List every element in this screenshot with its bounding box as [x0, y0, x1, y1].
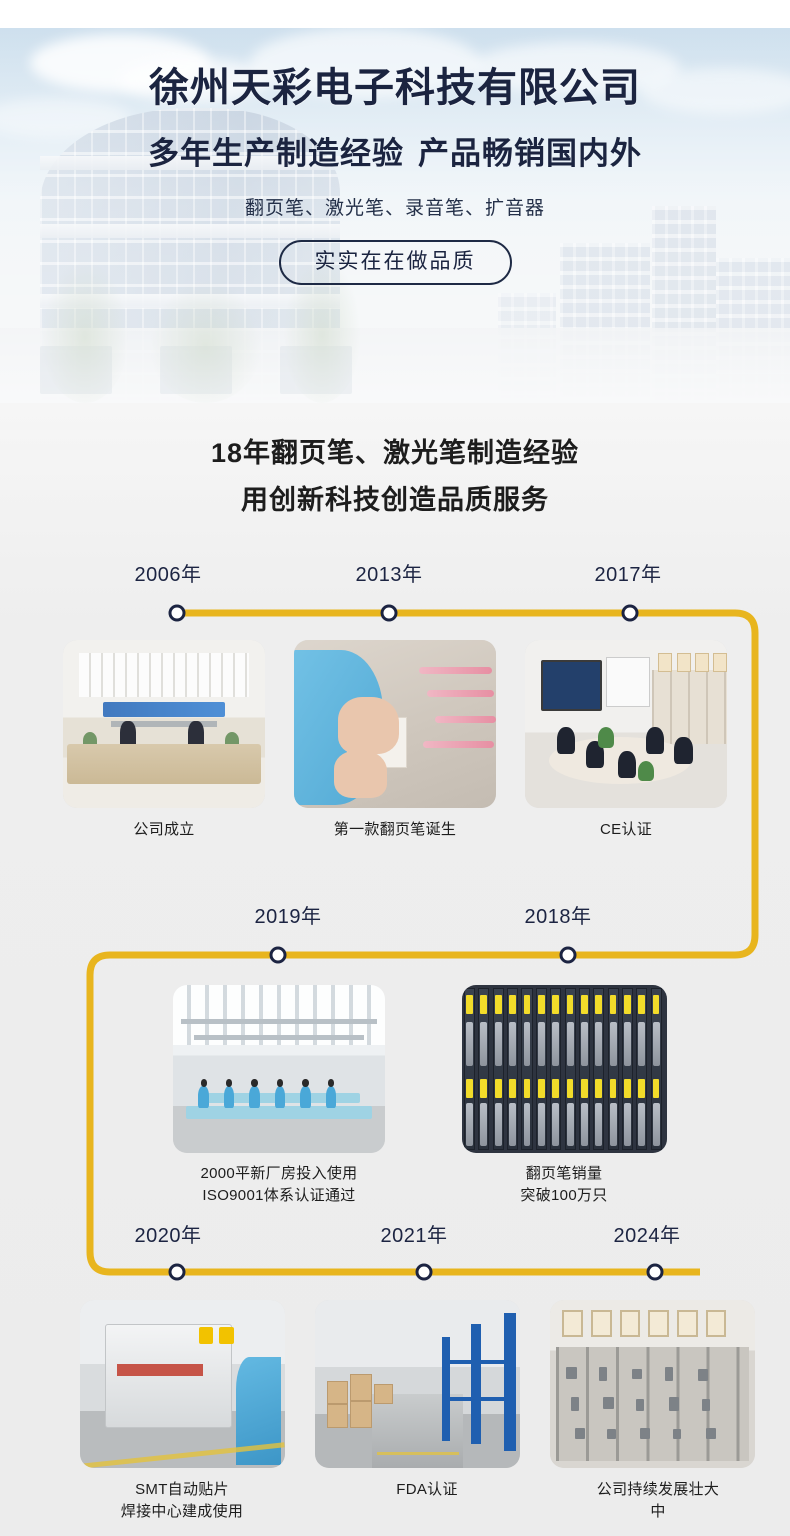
- timeline-year-2013: 2013年: [356, 565, 423, 585]
- timeline-node-2006: [169, 605, 186, 622]
- timeline-photo-factory-line[interactable]: [173, 985, 385, 1153]
- timeline-caption-2024: 公司持续发展壮大中: [592, 1479, 724, 1523]
- timeline-node-2018: [560, 947, 577, 964]
- timeline-photo-showroom[interactable]: [550, 1300, 755, 1468]
- timeline-photo-warehouse[interactable]: [315, 1300, 520, 1468]
- timeline-year-2021: 2021年: [381, 1226, 448, 1246]
- hero-banner: 徐州天彩电子科技有限公司 多年生产制造经验产品畅销国内外 翻页笔、激光笔、录音笔…: [0, 28, 790, 403]
- section-heading-line1: 18年翻页笔、激光笔制造经验: [0, 440, 790, 467]
- hero-tagline-right: 产品畅销国内外: [418, 136, 642, 171]
- timeline-year-2018: 2018年: [525, 907, 592, 927]
- timeline-caption-2006: 公司成立: [133, 819, 194, 841]
- timeline-caption-2017: CE认证: [600, 819, 652, 841]
- timeline-caption-2020: SMT自动贴片 焊接中心建成使用: [121, 1479, 243, 1523]
- timeline-node-2013: [381, 605, 398, 622]
- timeline-photo-meeting[interactable]: [525, 640, 727, 808]
- timeline-node-2017: [622, 605, 639, 622]
- timeline-node-2020: [169, 1264, 186, 1281]
- timeline-caption-2021: FDA认证: [396, 1479, 458, 1501]
- top-white-strip: [0, 0, 790, 28]
- hero-quality-pill: 实实在在做品质: [279, 240, 512, 285]
- section-heading: 18年翻页笔、激光笔制造经验 用创新科技创造品质服务: [0, 440, 790, 514]
- timeline-photo-packing[interactable]: [294, 640, 496, 808]
- timeline-node-2019: [270, 947, 287, 964]
- timeline-year-2024: 2024年: [614, 1226, 681, 1246]
- hero-tagline: 多年生产制造经验产品畅销国内外: [148, 138, 642, 169]
- timeline-caption-2018: 翻页笔销量 突破100万只: [520, 1163, 607, 1207]
- timeline-node-2024: [647, 1264, 664, 1281]
- timeline-caption-2019: 2000平新厂房投入使用 ISO9001体系认证通过: [201, 1163, 358, 1207]
- timeline-year-2020: 2020年: [135, 1226, 202, 1246]
- hero-product-list: 翻页笔、激光笔、录音笔、扩音器: [245, 199, 545, 218]
- timeline-year-2017: 2017年: [595, 565, 662, 585]
- timeline-caption-2013: 第一款翻页笔诞生: [334, 819, 456, 841]
- timeline-photo-lobby[interactable]: [63, 640, 265, 808]
- timeline-year-2006: 2006年: [135, 565, 202, 585]
- hero-tagline-left: 多年生产制造经验: [148, 136, 404, 171]
- page-root: 徐州天彩电子科技有限公司 多年生产制造经验产品畅销国内外 翻页笔、激光笔、录音笔…: [0, 0, 790, 1536]
- company-name-title: 徐州天彩电子科技有限公司: [149, 68, 641, 108]
- section-heading-line2: 用创新科技创造品质服务: [0, 487, 790, 514]
- timeline-node-2021: [416, 1264, 433, 1281]
- timeline-photo-smt[interactable]: [80, 1300, 285, 1468]
- timeline-year-2019: 2019年: [255, 907, 322, 927]
- timeline-photo-packed-pens[interactable]: [462, 985, 667, 1153]
